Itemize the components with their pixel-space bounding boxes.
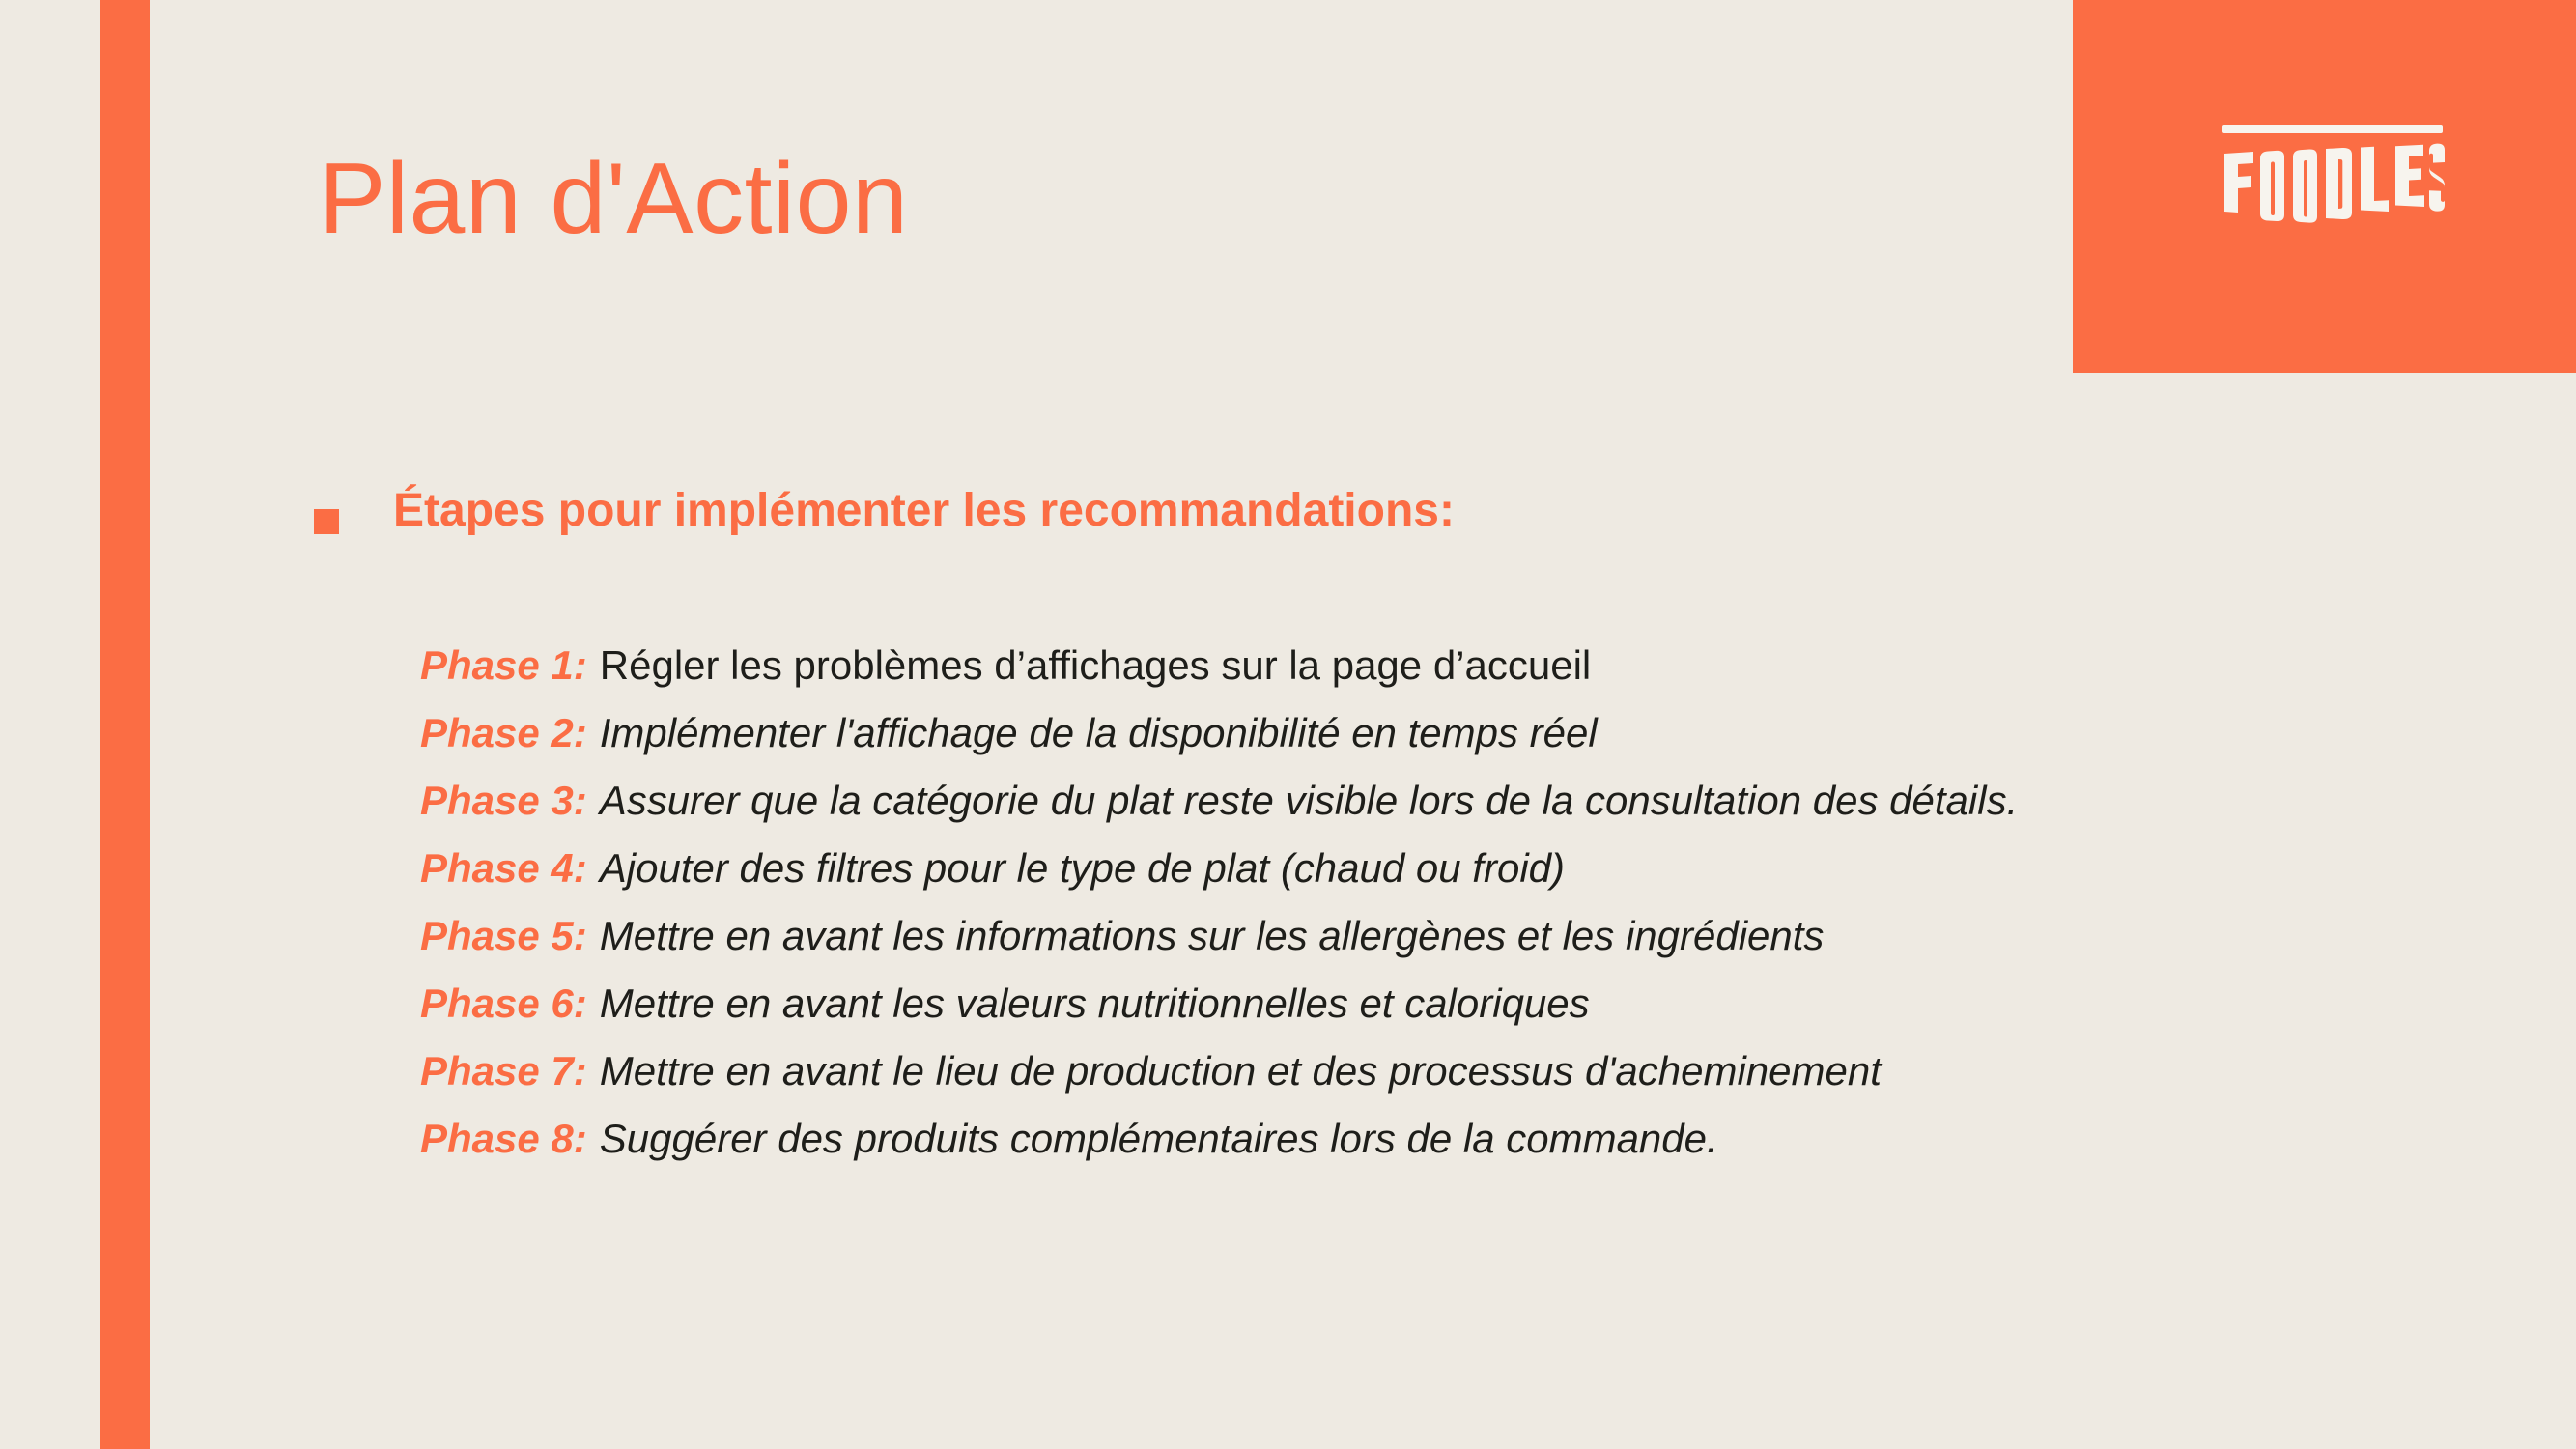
slide-body: Étapes pour implémenter les recommandati… bbox=[0, 0, 2576, 1449]
phase-label: Phase 8: bbox=[420, 1116, 587, 1162]
phase-label: Phase 7: bbox=[420, 1048, 587, 1094]
phase-item: Phase 6: Mettre en avant les valeurs nut… bbox=[420, 980, 2449, 1048]
phase-list: Phase 1: Régler les problèmes d’affichag… bbox=[420, 642, 2449, 1183]
phase-description: Implémenter l'affichage de la disponibil… bbox=[600, 710, 1598, 756]
phase-item: Phase 8: Suggérer des produits complémen… bbox=[420, 1116, 2449, 1183]
phase-item: Phase 1: Régler les problèmes d’affichag… bbox=[420, 642, 2449, 710]
phase-item: Phase 2: Implémenter l'affichage de la d… bbox=[420, 710, 2449, 778]
phase-item: Phase 3: Assurer que la catégorie du pla… bbox=[420, 778, 2449, 845]
phase-description: Suggérer des produits complémentaires lo… bbox=[600, 1116, 1718, 1162]
phase-description: Assurer que la catégorie du plat reste v… bbox=[600, 778, 2018, 824]
phase-description: Mettre en avant les informations sur les… bbox=[600, 913, 1825, 959]
section-heading-label: Étapes pour implémenter les recommandati… bbox=[393, 483, 1455, 540]
phase-label: Phase 5: bbox=[420, 913, 587, 959]
square-bullet-icon bbox=[314, 509, 339, 534]
phase-item: Phase 7: Mettre en avant le lieu de prod… bbox=[420, 1048, 2449, 1116]
phase-item: Phase 5: Mettre en avant les information… bbox=[420, 913, 2449, 980]
phase-label: Phase 3: bbox=[420, 778, 587, 824]
phase-description: Mettre en avant le lieu de production et… bbox=[600, 1048, 1882, 1094]
phase-item: Phase 4: Ajouter des filtres pour le typ… bbox=[420, 845, 2449, 913]
phase-description: Mettre en avant les valeurs nutritionnel… bbox=[600, 980, 1590, 1027]
phase-description: Ajouter des filtres pour le type de plat… bbox=[600, 845, 1565, 892]
phase-label: Phase 6: bbox=[420, 980, 587, 1027]
phase-label: Phase 4: bbox=[420, 845, 587, 892]
phase-label: Phase 1: bbox=[420, 642, 587, 689]
section-heading: Étapes pour implémenter les recommandati… bbox=[314, 483, 1455, 540]
phase-label: Phase 2: bbox=[420, 710, 587, 756]
phase-description: Régler les problèmes d’affichages sur la… bbox=[600, 642, 1591, 689]
presentation-slide: Plan d'Action Étapes pour implémenter le… bbox=[0, 0, 2576, 1449]
